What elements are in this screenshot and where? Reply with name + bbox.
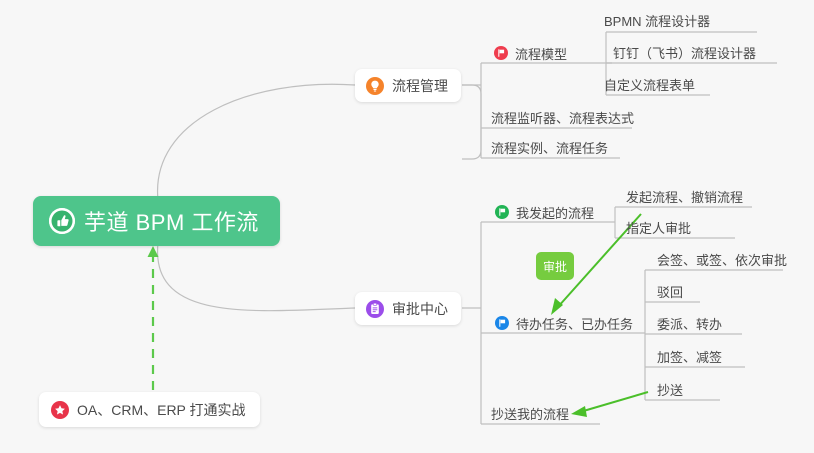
star-icon (51, 401, 69, 419)
topic-label-process-model: 流程模型 (515, 44, 567, 63)
root-label: 芋道 BPM 工作流 (84, 205, 259, 237)
flag-icon (494, 46, 508, 60)
leaf-add-remove-sign[interactable]: 加签、减签 (657, 349, 722, 367)
leaf-dingtalk-feishu-designer[interactable]: 钉钉（飞书）流程设计器 (613, 45, 756, 63)
branch-label-approval-center: 审批中心 (392, 299, 448, 319)
topic-process-model[interactable]: 流程模型 (494, 43, 567, 63)
leaf-delegate-transfer[interactable]: 委派、转办 (657, 316, 722, 334)
flag-icon (495, 316, 509, 330)
topic-todo-done-tasks[interactable]: 待办任务、已办任务 (495, 313, 633, 333)
green-arrow-cc (571, 392, 648, 417)
topic-label-todo-done-tasks: 待办任务、已办任务 (516, 314, 633, 333)
note-label: OA、CRM、ERP 打通实战 (77, 400, 246, 420)
topic-my-initiated[interactable]: 我发起的流程 (495, 202, 594, 222)
leaf-custom-process-form[interactable]: 自定义流程表单 (604, 77, 695, 95)
clipboard-icon (366, 300, 384, 318)
mindmap-canvas: 芋道 BPM 工作流 流程管理 审批中心 (0, 0, 814, 453)
note-node-integration[interactable]: OA、CRM、ERP 打通实战 (39, 392, 260, 427)
approval-badge[interactable]: 审批 (536, 252, 574, 280)
branch-node-process-management[interactable]: 流程管理 (355, 69, 461, 102)
leaf-bpmn-designer[interactable]: BPMN 流程设计器 (604, 13, 710, 31)
leaf-assignee-approval[interactable]: 指定人审批 (626, 220, 691, 238)
leaf-start-cancel-process[interactable]: 发起流程、撤销流程 (626, 189, 743, 207)
branch-node-approval-center[interactable]: 审批中心 (355, 292, 461, 325)
dashed-arrow-note-to-root (148, 246, 159, 390)
leaf-countersign[interactable]: 会签、或签、依次审批 (657, 252, 787, 270)
topic-cc-to-me[interactable]: 抄送我的流程 (491, 406, 569, 424)
branch-label-process-management: 流程管理 (392, 76, 448, 96)
topic-process-instance[interactable]: 流程实例、流程任务 (491, 140, 608, 158)
flag-icon (495, 205, 509, 219)
thumbs-up-icon (49, 208, 75, 234)
approval-badge-label: 审批 (543, 258, 567, 275)
lightbulb-icon (366, 77, 384, 95)
topic-process-listener[interactable]: 流程监听器、流程表达式 (491, 110, 634, 128)
topic-label-my-initiated: 我发起的流程 (516, 203, 594, 222)
root-node[interactable]: 芋道 BPM 工作流 (33, 196, 280, 246)
leaf-carbon-copy[interactable]: 抄送 (657, 382, 683, 400)
leaf-reject[interactable]: 驳回 (657, 284, 683, 302)
